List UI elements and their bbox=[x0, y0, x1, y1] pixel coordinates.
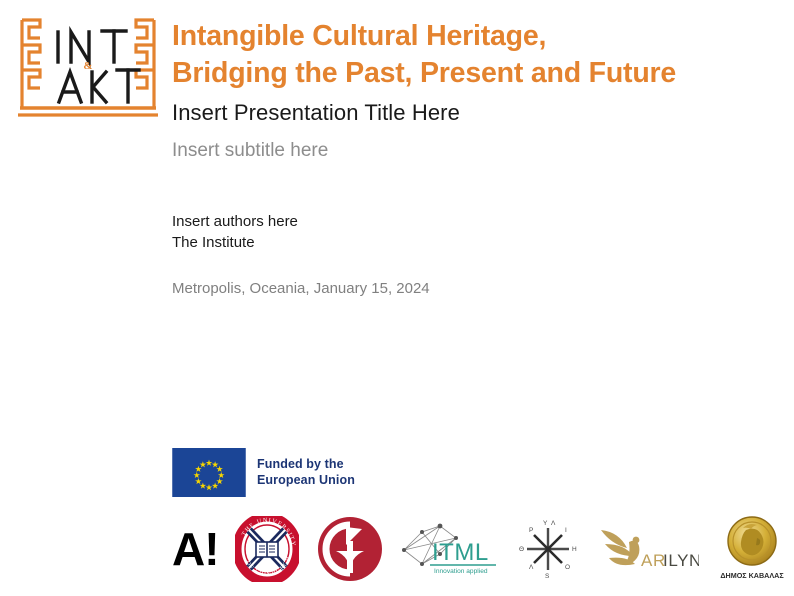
itml-logo-icon: ITML Innovation applied bbox=[400, 520, 500, 578]
intact-logo: & bbox=[14, 12, 162, 124]
partner-logo-compass: Υ Λ Ρ Ι Θ Η Λ Ο S bbox=[517, 513, 579, 585]
project-title: Intangible Cultural Heritage, Bridging t… bbox=[172, 18, 772, 92]
svg-text:Ρ: Ρ bbox=[529, 527, 533, 534]
arilyn-logo-icon: AR ILYN bbox=[595, 520, 699, 578]
eu-caption-line-1: Funded by the bbox=[257, 457, 355, 473]
svg-text:Λ: Λ bbox=[529, 564, 534, 571]
venue-and-date: Metropolis, Oceania, January 15, 2024 bbox=[172, 280, 430, 297]
svg-text:Υ: Υ bbox=[543, 520, 548, 527]
partner-logo-strip: A! THE UNIVERSITY bbox=[172, 512, 788, 586]
arilyn-wordmark-dark: ILYN bbox=[663, 551, 699, 570]
project-title-line-1: Intangible Cultural Heritage, bbox=[172, 18, 772, 55]
red-emblem-icon bbox=[316, 515, 384, 583]
svg-text:Λ: Λ bbox=[551, 520, 556, 527]
eu-flag-icon bbox=[172, 448, 246, 497]
presentation-subtitle: Insert subtitle here bbox=[172, 140, 328, 162]
greek-key-border-right bbox=[136, 20, 154, 108]
aalto-wordmark: A! bbox=[172, 526, 219, 572]
eu-funding-badge: Funded by the European Union bbox=[172, 448, 355, 497]
svg-text:Ι: Ι bbox=[565, 527, 567, 534]
partner-logo-arilyn: AR ILYN bbox=[595, 513, 699, 585]
partner-logo-kavala: ΔΗΜΟΣ ΚΑΒΑΛΑΣ bbox=[716, 513, 788, 585]
svg-text:Η: Η bbox=[572, 546, 577, 553]
partner-logo-red-emblem bbox=[316, 513, 384, 585]
author-line: Insert authors here bbox=[172, 211, 298, 232]
logo-ampersand: & bbox=[83, 60, 92, 72]
eu-funding-caption: Funded by the European Union bbox=[257, 457, 355, 489]
svg-text:S: S bbox=[545, 573, 550, 580]
logo-base-rules bbox=[18, 108, 158, 115]
svg-text:Θ: Θ bbox=[519, 546, 524, 553]
greek-key-border-left bbox=[22, 20, 40, 108]
itml-wordmark: ITML bbox=[432, 539, 489, 566]
compass-hub bbox=[545, 546, 550, 551]
presentation-title: Insert Presentation Title Here bbox=[172, 100, 460, 126]
presentation-title-slide: & Intangible Cultural Heritage, Bridging… bbox=[0, 0, 794, 596]
logo-letters bbox=[58, 31, 139, 102]
affiliation-line: The Institute bbox=[172, 232, 298, 253]
arilyn-winged-figure bbox=[601, 530, 639, 565]
project-title-line-2: Bridging the Past, Present and Future bbox=[172, 55, 772, 92]
partner-logo-edinburgh: THE UNIVERSITY OF EDINBURGH bbox=[235, 513, 299, 585]
itml-tagline: Innovation applied bbox=[434, 568, 488, 575]
edinburgh-book bbox=[256, 542, 278, 557]
edinburgh-crest-icon: THE UNIVERSITY OF EDINBURGH bbox=[235, 516, 299, 582]
compass-rose-icon: Υ Λ Ρ Ι Θ Η Λ Ο S bbox=[517, 516, 579, 582]
partner-logo-aalto: A! bbox=[172, 513, 219, 585]
kavala-coin-icon: ΔΗΜΟΣ ΚΑΒΑΛΑΣ bbox=[716, 514, 788, 584]
svg-text:Ο: Ο bbox=[565, 564, 570, 571]
partner-logo-itml: ITML Innovation applied bbox=[400, 513, 500, 585]
authors-block: Insert authors here The Institute bbox=[172, 211, 298, 254]
kavala-caption: ΔΗΜΟΣ ΚΑΒΑΛΑΣ bbox=[720, 571, 784, 580]
eu-caption-line-2: European Union bbox=[257, 473, 355, 489]
